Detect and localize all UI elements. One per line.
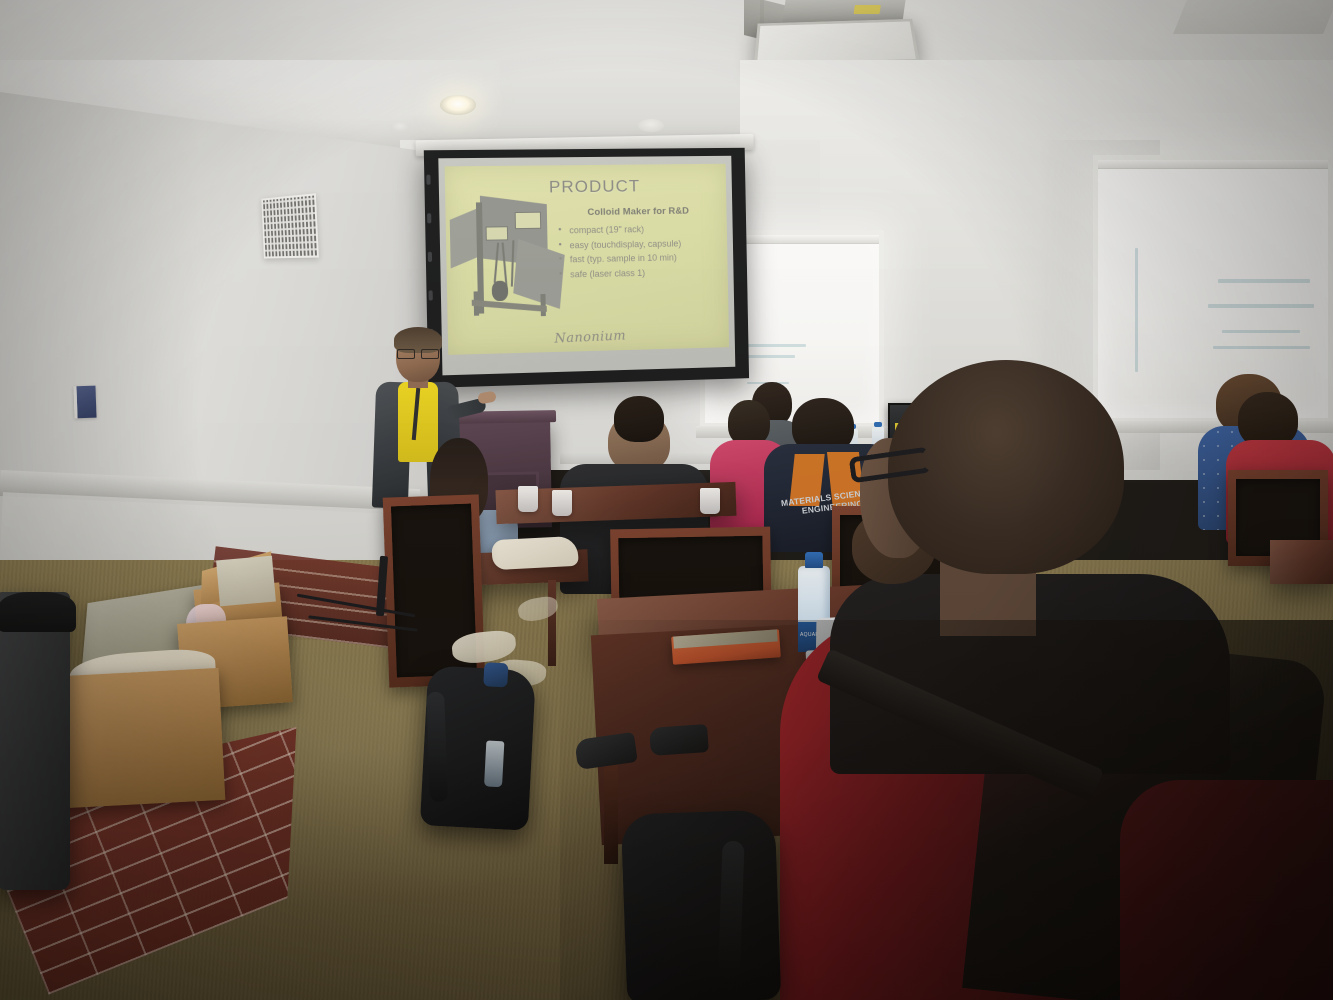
product-touchdisplay [515, 212, 542, 229]
slide-product-photo [453, 197, 568, 316]
slide-bullet-safe: safe (laser class 1) [556, 264, 722, 282]
screen-grommet [426, 175, 430, 185]
ceiling-vent-icon [1173, 0, 1333, 34]
scene-shadow-right [560, 620, 1333, 1000]
backpack-side-bottle [484, 740, 504, 787]
table-leg [548, 580, 556, 666]
slide-subhead: Colloid Maker for R&D [555, 205, 721, 218]
audience-member-behind [604, 396, 674, 442]
photo-scene: PRODUCT [0, 0, 1333, 1000]
small-white-box [216, 556, 276, 607]
napkins [491, 536, 578, 570]
window-glare-streak [1208, 304, 1314, 308]
cardboard-box-front [59, 668, 226, 808]
window-right-blind [1098, 160, 1328, 169]
window-mullion [1135, 248, 1138, 372]
trash-bag-liner [0, 592, 76, 632]
water-cup [518, 486, 538, 512]
screen-grommet [428, 252, 432, 262]
backpack-strap [426, 692, 448, 803]
ceiling-projector-lift [742, 0, 928, 66]
trash-can [0, 592, 70, 890]
product-accessory [492, 281, 509, 302]
audience-head [614, 396, 664, 442]
window-glare-streak [1218, 279, 1310, 283]
recessed-light-icon [440, 95, 476, 115]
wall-air-vent-icon [261, 193, 319, 258]
window-glare-streak [1222, 330, 1300, 333]
screen-grommet [427, 213, 431, 223]
ceiling-speaker-secondary-icon [390, 122, 410, 132]
slide-logo-nanonium: Nanonium [554, 328, 626, 346]
backpack-left [420, 665, 536, 830]
presentation-slide: PRODUCT [445, 164, 730, 355]
product-label-plate [486, 226, 509, 240]
slide-bullet-block: Colloid Maker for R&D compact (19" rack)… [555, 205, 722, 282]
slide-title: PRODUCT [549, 176, 641, 197]
presenter-glasses-icon [397, 349, 439, 357]
backpack-top-item [483, 662, 508, 687]
window-glare-streak [1213, 346, 1310, 349]
wall-sign [73, 386, 96, 419]
ceiling-speaker-icon [638, 119, 664, 132]
water-cup [552, 490, 572, 516]
water-cup [700, 488, 720, 514]
screen-grommet [429, 290, 433, 300]
